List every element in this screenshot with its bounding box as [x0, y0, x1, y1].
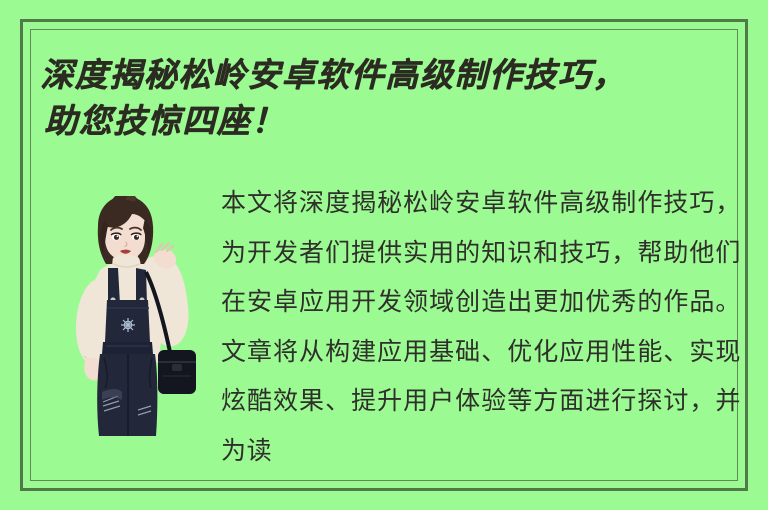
sleeve-left [76, 280, 104, 365]
bag-clasp [172, 364, 182, 371]
woman-illustration [50, 196, 208, 436]
page-title: 深度揭秘松岭安卓软件高级制作技巧， 助您技惊四座！ [40, 52, 730, 144]
eye-glint-left [117, 235, 119, 237]
iris-left [114, 235, 119, 240]
bib-embroidery [121, 318, 135, 332]
eye-glint-right [137, 235, 139, 237]
overalls-waistband [102, 342, 153, 354]
page-title-line-2: 助您技惊四座！ [40, 98, 730, 144]
page-title-line-1: 深度揭秘松岭安卓软件高级制作技巧， [40, 52, 730, 98]
shoulder-bag [158, 350, 196, 394]
poster-canvas: 深度揭秘松岭安卓软件高级制作技巧， 助您技惊四座！ 本文将深度揭秘松岭安卓软件高… [0, 0, 768, 510]
article-body-text: 本文将深度揭秘松岭安卓软件高级制作技巧，为开发者们提供实用的知识和技巧，帮助他们… [221, 178, 741, 468]
iris-right [134, 235, 139, 240]
